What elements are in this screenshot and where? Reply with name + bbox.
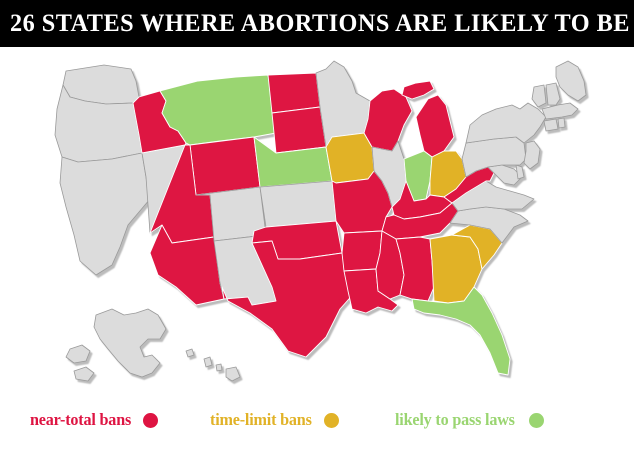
state-SD[interactable] <box>272 107 326 153</box>
state-RI[interactable] <box>558 118 565 128</box>
state-AK[interactable] <box>66 309 166 381</box>
legend-item-near-total-bans: near-total bans <box>30 410 158 430</box>
state-CA[interactable] <box>60 153 150 275</box>
circle-icon-near-total-bans <box>143 413 158 428</box>
legend-label-near-total-bans: near-total bans <box>30 410 131 430</box>
state-MI[interactable] <box>402 81 454 157</box>
state-NY[interactable] <box>466 103 546 143</box>
legend-item-likely-to-pass-laws: likely to pass laws <box>395 410 543 430</box>
legend-label-likely-to-pass-laws: likely to pass laws <box>395 410 515 430</box>
map-container <box>0 47 634 397</box>
state-ME[interactable] <box>556 61 586 101</box>
state-AR[interactable] <box>342 231 382 271</box>
state-MA[interactable] <box>542 103 578 119</box>
state-IA[interactable] <box>326 133 374 183</box>
state-NJ[interactable] <box>524 141 540 169</box>
circle-icon-likely-to-pass-laws <box>529 413 544 428</box>
legend: near-total bans time-limit bans likely t… <box>0 400 634 440</box>
state-KS[interactable] <box>260 181 336 227</box>
state-WY[interactable] <box>190 137 260 195</box>
state-CT[interactable] <box>544 119 558 131</box>
state-ND[interactable] <box>268 73 320 113</box>
infographic: 26 STATES WHERE ABORTIONS ARE LIKELY TO … <box>0 0 634 453</box>
state-VT[interactable] <box>532 85 546 107</box>
page-title: 26 STATES WHERE ABORTIONS ARE LIKELY TO … <box>10 11 634 36</box>
legend-label-time-limit-bans: time-limit bans <box>210 410 312 430</box>
legend-item-time-limit-bans: time-limit bans <box>210 410 339 430</box>
state-NH[interactable] <box>546 83 560 105</box>
us-choropleth-map <box>0 47 634 397</box>
state-WI[interactable] <box>364 89 412 151</box>
state-HI[interactable] <box>186 349 240 381</box>
circle-icon-time-limit-bans <box>324 413 339 428</box>
title-bar: 26 STATES WHERE ABORTIONS ARE LIKELY TO … <box>0 0 634 47</box>
